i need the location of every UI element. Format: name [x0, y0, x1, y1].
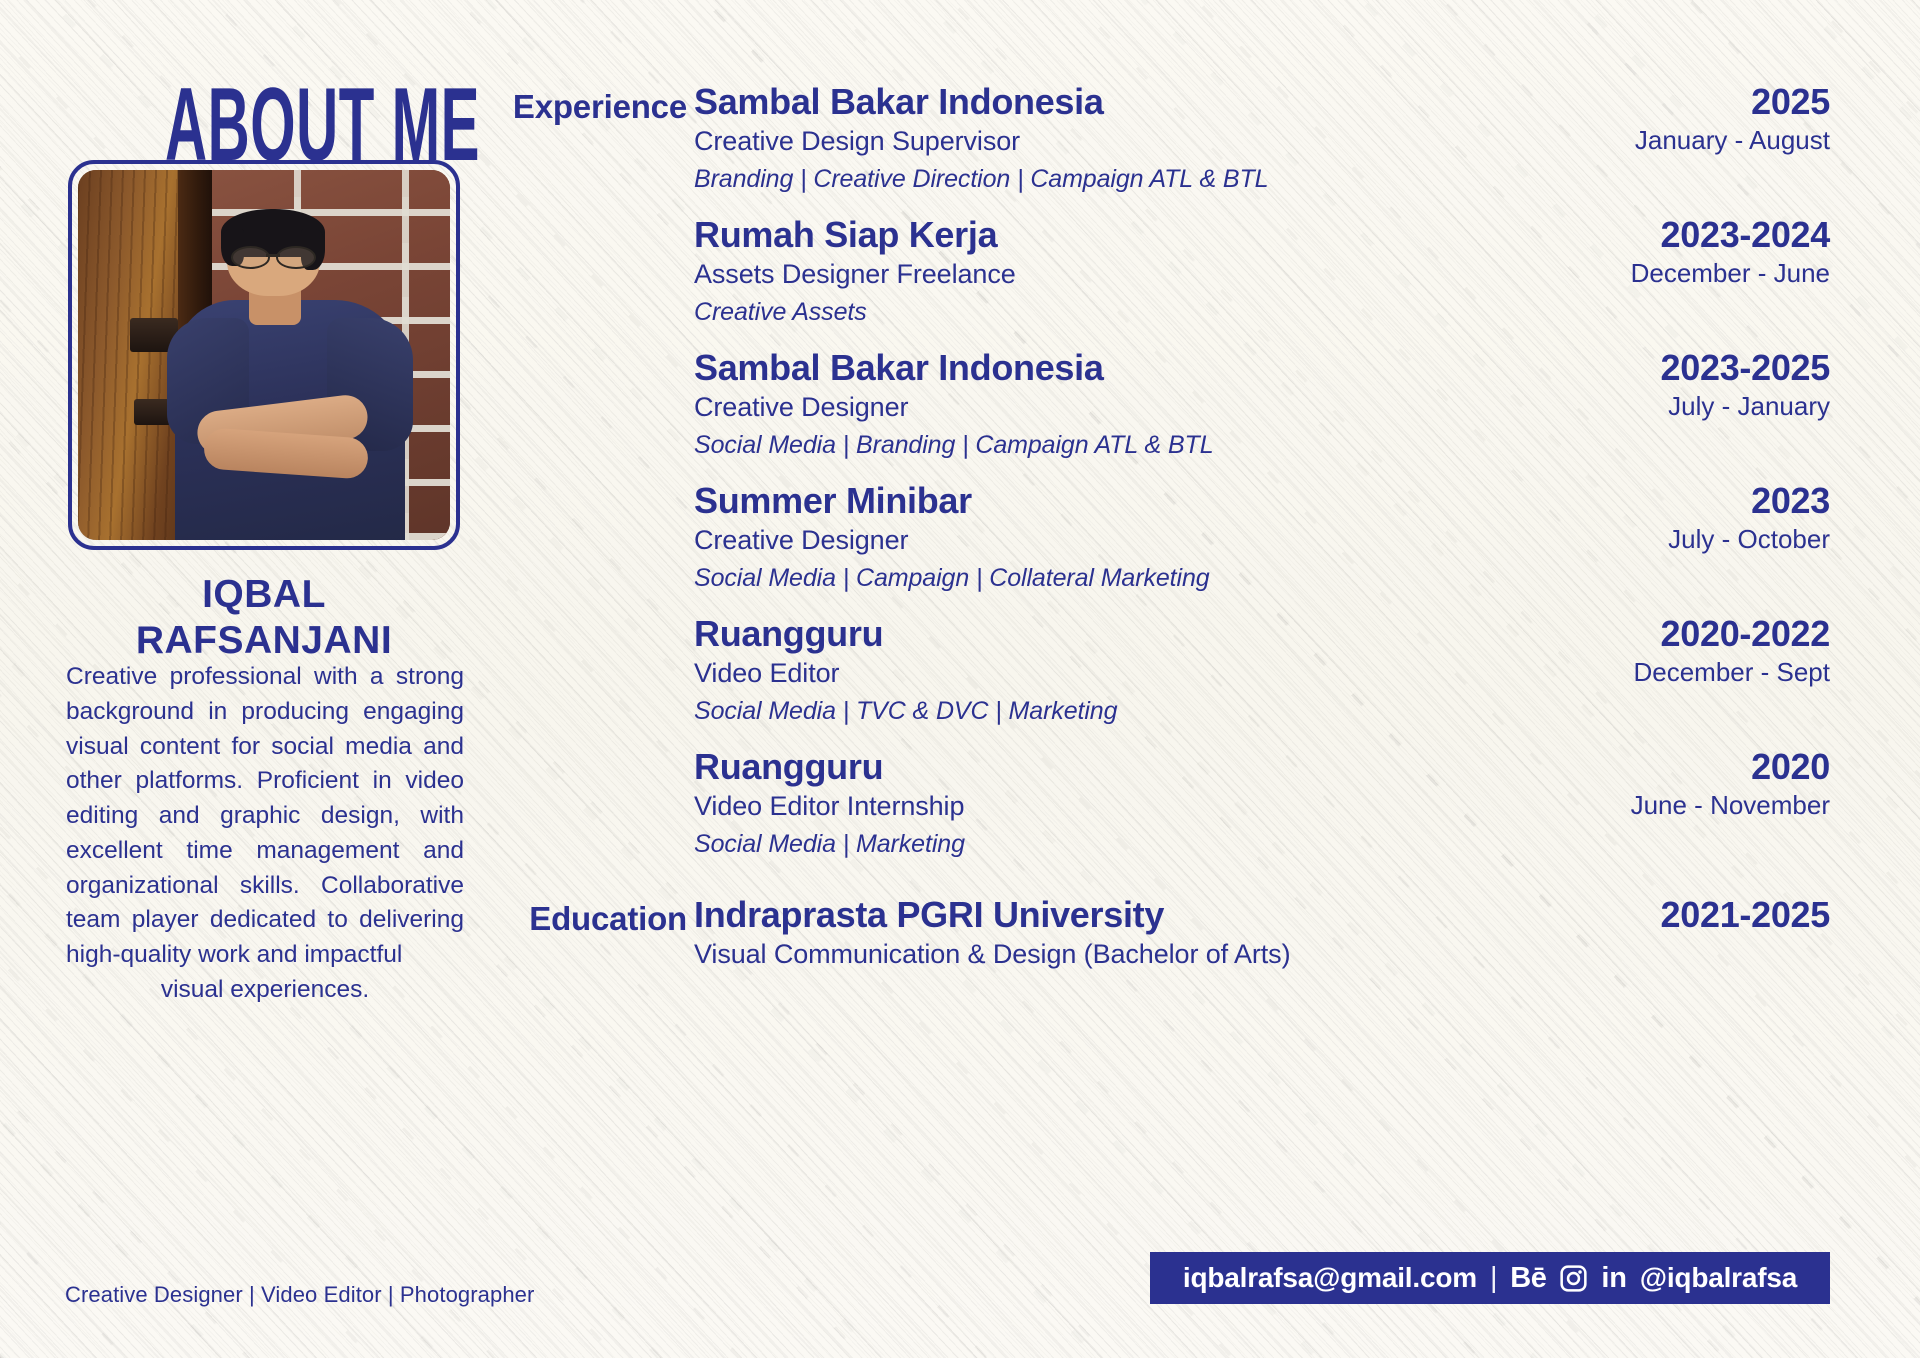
experience-entry-dates: 2023-2024 December - June: [1500, 215, 1830, 291]
resume-page: ABOUT ME: [0, 0, 1920, 1358]
education-entry-dates: 2021-2025: [1500, 895, 1830, 935]
section-label-experience: Experience: [487, 88, 687, 126]
contact-separator: |: [1490, 1262, 1497, 1295]
education-entry: Indraprasta PGRI University Visual Commu…: [694, 895, 1920, 995]
experience-entry-details: Sambal Bakar Indonesia Creative Design S…: [694, 82, 1554, 195]
profile-first-name: IQBAL: [62, 572, 466, 618]
behance-icon[interactable]: Bē: [1510, 1264, 1546, 1293]
experience-role: Video Editor Internship: [694, 789, 1554, 825]
experience-skills: Social Media | Campaign | Collateral Mar…: [694, 562, 1554, 595]
experience-years: 2023-2025: [1500, 348, 1830, 388]
experience-months: June - November: [1500, 789, 1830, 823]
contact-bar: iqbalrafsa@gmail.com | Bē in @iqbalrafsa: [1150, 1252, 1830, 1304]
experience-months: December - Sept: [1500, 656, 1830, 690]
experience-skills: Branding | Creative Direction | Campaign…: [694, 163, 1554, 196]
glasses-bridge: [266, 254, 280, 257]
experience-months: July - January: [1500, 390, 1830, 424]
experience-months: December - June: [1500, 257, 1830, 291]
profile-bio-text: Creative professional with a strong back…: [66, 663, 464, 968]
experience-years: 2023: [1500, 481, 1830, 521]
footer-roles: Creative Designer | Video Editor | Photo…: [65, 1282, 534, 1308]
experience-entry: Sambal Bakar Indonesia Creative Designer…: [694, 348, 1920, 481]
experience-role: Creative Design Supervisor: [694, 124, 1554, 160]
profile-last-name: RAFSANJANI: [62, 618, 466, 664]
instagram-icon[interactable]: [1559, 1264, 1588, 1293]
experience-entry: Ruangguru Video Editor Internship Social…: [694, 747, 1920, 880]
experience-years: 2020-2022: [1500, 614, 1830, 654]
experience-organization: Summer Minibar: [694, 481, 1554, 521]
experience-entry-details: Summer Minibar Creative Designer Social …: [694, 481, 1554, 594]
experience-years: 2025: [1500, 82, 1830, 122]
education-entry-details: Indraprasta PGRI University Visual Commu…: [694, 895, 1554, 973]
experience-entry-dates: 2025 January - August: [1500, 82, 1830, 158]
experience-entry-dates: 2020-2022 December - Sept: [1500, 614, 1830, 690]
experience-organization: Rumah Siap Kerja: [694, 215, 1554, 255]
experience-role: Creative Designer: [694, 523, 1554, 559]
main-content: Experience Education Sambal Bakar Indone…: [470, 0, 1920, 1358]
experience-list: Sambal Bakar Indonesia Creative Design S…: [694, 82, 1920, 880]
experience-skills: Social Media | TVC & DVC | Marketing: [694, 695, 1554, 728]
experience-entry: Ruangguru Video Editor Social Media | TV…: [694, 614, 1920, 747]
photo-door-hinge: [134, 399, 171, 425]
experience-organization: Ruangguru: [694, 747, 1554, 787]
experience-organization: Sambal Bakar Indonesia: [694, 82, 1554, 122]
section-label-education: Education: [487, 900, 687, 938]
experience-role: Creative Designer: [694, 390, 1554, 426]
experience-organization: Sambal Bakar Indonesia: [694, 348, 1554, 388]
linkedin-icon[interactable]: in: [1601, 1264, 1626, 1293]
glasses-lens-right: [276, 246, 316, 269]
experience-years: 2023-2024: [1500, 215, 1830, 255]
profile-photo: [78, 170, 450, 540]
profile-bio-last-line: visual experiences.: [66, 973, 464, 1008]
contact-handle[interactable]: @iqbalrafsa: [1640, 1262, 1797, 1294]
experience-entry: Summer Minibar Creative Designer Social …: [694, 481, 1920, 614]
experience-organization: Ruangguru: [694, 614, 1554, 654]
experience-entry: Rumah Siap Kerja Assets Designer Freelan…: [694, 215, 1920, 348]
experience-entry: Sambal Bakar Indonesia Creative Design S…: [694, 82, 1920, 215]
experience-entry-details: Sambal Bakar Indonesia Creative Designer…: [694, 348, 1554, 461]
experience-entry-dates: 2023 July - October: [1500, 481, 1830, 557]
education-institution: Indraprasta PGRI University: [694, 895, 1554, 935]
experience-years: 2020: [1500, 747, 1830, 787]
experience-skills: Social Media | Marketing: [694, 828, 1554, 861]
experience-entry-dates: 2023-2025 July - January: [1500, 348, 1830, 424]
experience-entry-details: Ruangguru Video Editor Social Media | TV…: [694, 614, 1554, 727]
education-list: Indraprasta PGRI University Visual Commu…: [694, 895, 1920, 995]
profile-bio: Creative professional with a strong back…: [66, 660, 464, 1008]
photo-subject-glasses: [231, 246, 317, 265]
experience-skills: Creative Assets: [694, 296, 1554, 329]
about-me-column: ABOUT ME: [62, 0, 466, 1358]
experience-entry-details: Ruangguru Video Editor Internship Social…: [694, 747, 1554, 860]
contact-email[interactable]: iqbalrafsa@gmail.com: [1183, 1262, 1477, 1294]
experience-role: Video Editor: [694, 656, 1554, 692]
glasses-lens-left: [231, 246, 271, 269]
experience-role: Assets Designer Freelance: [694, 257, 1554, 293]
experience-months: July - October: [1500, 523, 1830, 557]
education-degree: Visual Communication & Design (Bachelor …: [694, 937, 1554, 973]
experience-skills: Social Media | Branding | Campaign ATL &…: [694, 429, 1554, 462]
experience-entry-dates: 2020 June - November: [1500, 747, 1830, 823]
education-years: 2021-2025: [1500, 895, 1830, 935]
experience-months: January - August: [1500, 124, 1830, 158]
profile-photo-frame: [68, 160, 460, 550]
experience-entry-details: Rumah Siap Kerja Assets Designer Freelan…: [694, 215, 1554, 328]
profile-name: IQBAL RAFSANJANI: [62, 572, 466, 664]
